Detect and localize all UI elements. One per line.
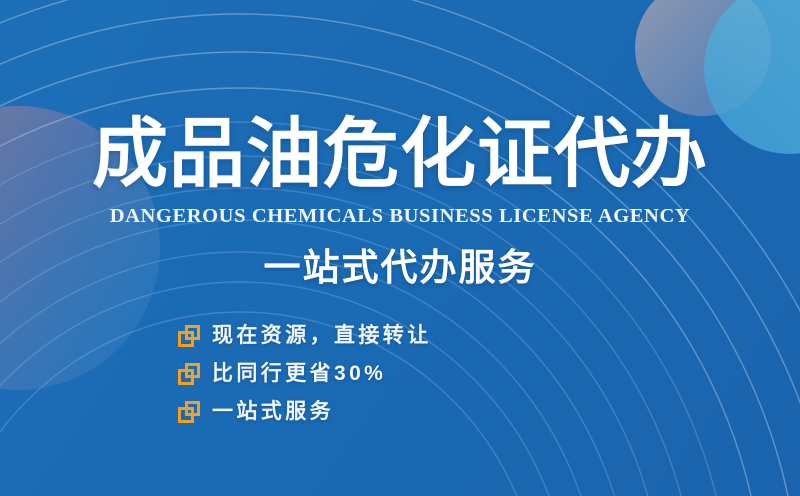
- promo-banner: 成品油危化证代办 DANGEROUS CHEMICALS BUSINESS LI…: [0, 0, 800, 496]
- headline-english: DANGEROUS CHEMICALS BUSINESS LICENSE AGE…: [0, 204, 800, 228]
- list-item: 现在资源，直接转让: [178, 318, 598, 354]
- list-item: 一站式服务: [178, 394, 598, 430]
- feature-label: 一站式服务: [212, 399, 334, 425]
- headline-chinese: 成品油危化证代办: [0, 112, 800, 198]
- feature-label: 现在资源，直接转让: [212, 323, 432, 349]
- feature-list: 现在资源，直接转让 比同行更省30% 一站式服务: [178, 318, 598, 432]
- overlapping-squares-icon: [178, 325, 200, 347]
- banner-content: 成品油危化证代办 DANGEROUS CHEMICALS BUSINESS LI…: [0, 0, 800, 496]
- overlapping-squares-icon: [178, 363, 200, 385]
- subheadline-chinese: 一站式代办服务: [0, 245, 800, 291]
- list-item: 比同行更省30%: [178, 356, 598, 392]
- overlapping-squares-icon: [178, 401, 200, 423]
- feature-label: 比同行更省30%: [212, 361, 386, 387]
